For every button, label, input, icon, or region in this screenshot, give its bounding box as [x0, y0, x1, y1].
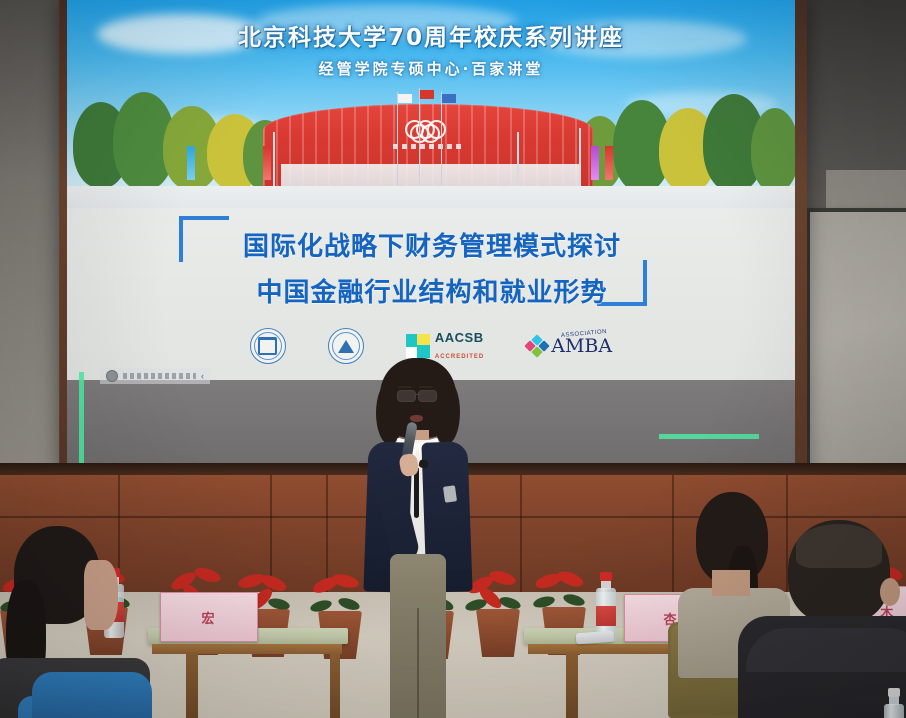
flagpole [419, 88, 420, 188]
banner [263, 146, 271, 180]
flagpole [397, 92, 398, 188]
flag-red [420, 90, 434, 99]
flower-pot [476, 609, 520, 657]
water-bottle [884, 688, 904, 718]
amba-logo: ASSOCIATION AMBA [526, 336, 612, 356]
pocket-square [443, 485, 457, 503]
glasses-bridge-icon [414, 394, 418, 395]
placard-name: 宏 [201, 608, 216, 627]
lecture-hall-photo: 北京科技大学70周年校庆系列讲座 经管学院专硕中心·百家讲堂 国际化战略下财务管… [0, 0, 906, 718]
trouser-seam [417, 608, 419, 718]
presenter-mouth [410, 415, 423, 422]
banner [605, 146, 613, 180]
chevron-left-icon[interactable]: ‹ [201, 371, 204, 381]
audience-ear [880, 578, 900, 606]
university-seal-logo [250, 328, 286, 364]
emblem-mark-icon [338, 340, 354, 353]
seal-mark-icon [258, 337, 277, 355]
presenter [352, 358, 482, 718]
aacsb-mark-icon [406, 334, 430, 358]
tree-shape [751, 108, 795, 192]
powerpoint-presenter-toolbar[interactable]: ‹ [100, 368, 210, 384]
presenter-toolbar-text [123, 373, 196, 379]
olympic-rings-icon [405, 120, 451, 138]
audience-face-side [84, 560, 118, 630]
street-lamp [517, 132, 519, 190]
desk-leg [566, 654, 578, 718]
amba-mark-icon [526, 336, 548, 356]
aacsb-label: AACSB [435, 330, 484, 345]
poinsettia-plant [530, 565, 592, 613]
slide-sky-background: 北京科技大学70周年校庆系列讲座 经管学院专硕中心·百家讲堂 [67, 0, 795, 211]
presenter-menu-icon[interactable] [106, 370, 118, 382]
street-lamp [579, 128, 581, 190]
desk-apron [152, 644, 342, 654]
eyebrow-left [398, 386, 412, 388]
flag-white [398, 94, 412, 103]
slide-header-subtitle: 经管学院专硕中心·百家讲堂 [67, 58, 795, 79]
banner [187, 146, 195, 180]
audience-left-rear [32, 672, 152, 718]
green-dash-icon [659, 434, 759, 439]
glasses-lens-left-icon [397, 390, 416, 402]
desk-leg [186, 654, 198, 718]
slide-header-title: 北京科技大学70周年校庆系列讲座 [67, 18, 795, 52]
glasses-lens-right-icon [418, 390, 437, 402]
slide-title-line-2: 中国金融行业结构和就业形势 [177, 270, 687, 316]
flag-blue [442, 94, 456, 103]
flagpole [441, 92, 442, 188]
building-name-plate [393, 144, 463, 149]
eyebrow-right [419, 386, 433, 388]
hood [746, 628, 906, 672]
ribbon-tail [414, 468, 419, 518]
banner [591, 146, 599, 180]
name-placard: 宏 [160, 592, 258, 642]
amba-text: ASSOCIATION AMBA [551, 337, 612, 356]
street-lamp [273, 132, 275, 190]
whiteboard [806, 208, 906, 476]
audience-torso [32, 672, 152, 718]
audience-neck [712, 570, 750, 596]
green-corner-bracket-icon [79, 372, 254, 464]
slide-title-line-1: 国际化战略下财务管理模式探讨 [177, 224, 687, 270]
left-wall [0, 0, 66, 520]
hair-highlight [796, 524, 882, 568]
slide-title-block: 国际化战略下财务管理模式探讨 中国金融行业结构和就业形势 [177, 224, 687, 316]
desk-leg [330, 654, 340, 718]
